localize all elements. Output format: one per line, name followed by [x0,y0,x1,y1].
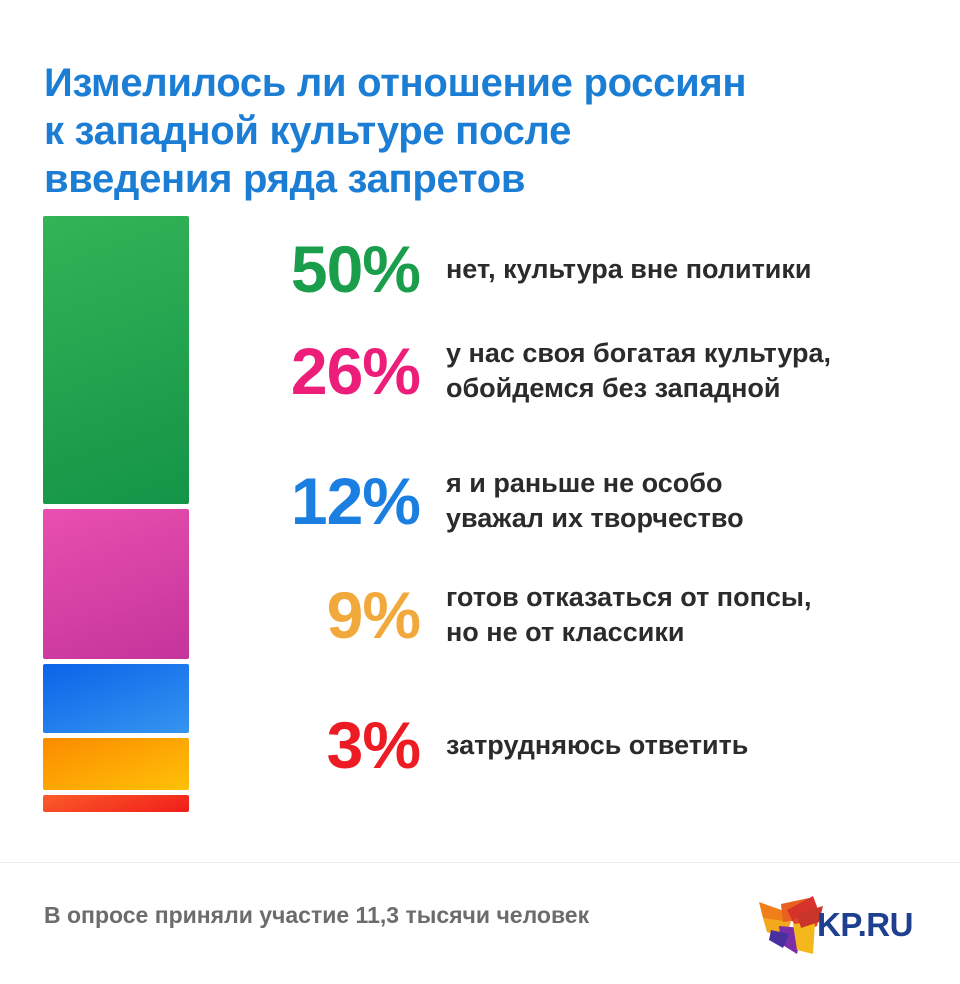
percentage-value-4: 3% [210,712,420,778]
legend-row-0: 50% нет, культура вне политики [210,236,950,302]
answer-label-2: я и раньше не особо уважал их творчество [446,466,950,536]
footer-divider [0,862,960,863]
legend-row-1: 26% у нас своя богатая культура, обойдем… [210,336,950,406]
page-title: Измелилось ли отношение россиян к западн… [44,59,904,203]
bar-segment-0 [43,216,189,504]
bar-segment-2 [43,664,189,733]
legend-row-4: 3% затрудняюсь ответить [210,712,950,778]
infographic-canvas: Измелилось ли отношение россиян к западн… [0,0,960,984]
legend-row-3: 9% готов отказаться от попсы, но не от к… [210,580,950,650]
bar-segment-1 [43,509,189,659]
percentage-value-2: 12% [210,468,420,534]
answer-label-3: готов отказаться от попсы, но не от клас… [446,580,950,650]
logo-wordmark: KP.RU [817,906,913,944]
bar-segment-4 [43,795,189,812]
percentage-value-0: 50% [210,236,420,302]
percentage-value-3: 9% [210,582,420,648]
stacked-bar-chart [43,216,189,812]
answer-label-4: затрудняюсь ответить [446,728,950,763]
bar-segment-3 [43,738,189,790]
answer-label-0: нет, культура вне политики [446,252,950,287]
percentage-value-1: 26% [210,338,420,404]
survey-sample-note: В опросе приняли участие 11,3 тысячи чел… [44,900,589,930]
answer-label-1: у нас своя богатая культура, обойдемся б… [446,336,950,406]
kp-ru-logo[interactable]: KP.RU [757,892,927,958]
legend-row-2: 12% я и раньше не особо уважал их творче… [210,466,950,536]
